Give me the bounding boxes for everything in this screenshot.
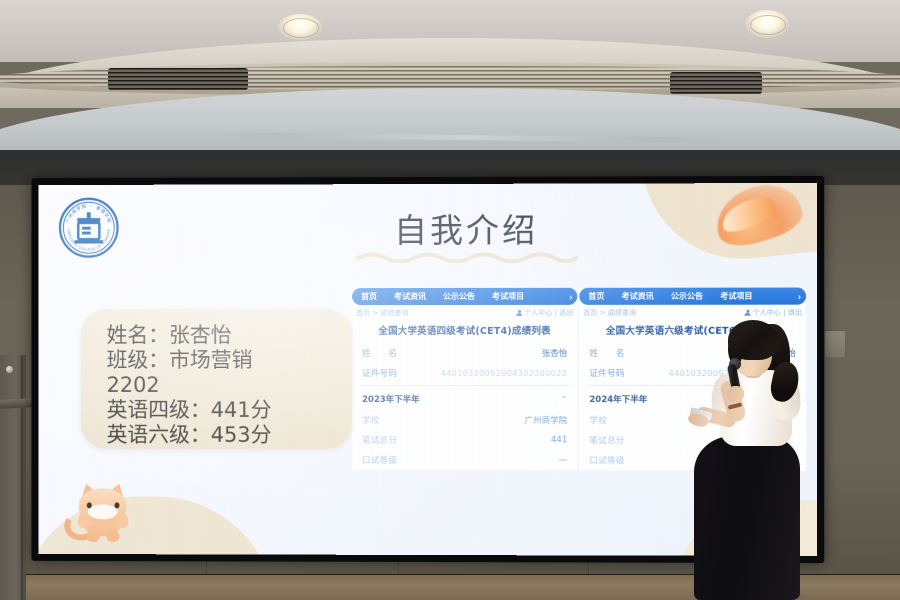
classroom-scene: 广州商学院 ・ 管理学院 GUANGZHOU COLLEGE OF COMMER… <box>0 0 900 600</box>
cet6-label-name: 姓 名 <box>589 347 624 359</box>
ceiling-light-ring-2 <box>750 15 786 35</box>
cat-muzzle <box>88 504 118 519</box>
cet4-account-area[interactable]: 个人中心 | 退出 <box>516 308 573 318</box>
cet6-account-area[interactable]: 个人中心 | 退出 <box>745 308 802 318</box>
vent-grille-right <box>670 72 762 94</box>
cet4-panel-title: 全国大学英语四级考试(CET4)成绩列表 <box>352 320 577 343</box>
person-icon <box>745 309 751 316</box>
page-title: 自我介绍 <box>336 204 596 253</box>
cet4-row-school: 学校 广州商学院 <box>352 410 577 430</box>
lectern-top-surface <box>0 398 34 409</box>
info-card-lines: 姓名：张杏怡 班级：市场营销 2202 英语四级：441分 英语六级：453分 <box>81 309 352 448</box>
cet4-period-label: 2023年下半年 <box>362 393 420 405</box>
cet6-nav-bar[interactable]: 首页 考试资讯 公示公告 考试项目 › <box>579 288 806 305</box>
presenter-hand-right <box>727 386 744 402</box>
presenter <box>688 318 838 600</box>
cet6-nav-news[interactable]: 考试资讯 <box>622 291 654 302</box>
info-line-class: 班级：市场营销 <box>107 348 352 373</box>
cet4-breadcrumb-path[interactable]: 首页 > 成绩查询 <box>356 308 408 318</box>
info-line-name: 姓名：张杏怡 <box>107 323 352 348</box>
chevron-up-icon[interactable]: ⌃ <box>561 395 568 404</box>
lectern-edge <box>21 355 23 600</box>
cat-leg-left <box>87 530 100 542</box>
cet4-period-row[interactable]: 2023年下半年 ⌃ <box>352 388 577 410</box>
cet4-row-name: 姓 名 张杏怡 <box>352 343 577 363</box>
cet4-breadcrumb: 首页 > 成绩查询 个人中心 | 退出 <box>352 305 577 320</box>
cet6-nav-projects[interactable]: 考试项目 <box>720 291 752 302</box>
info-line-class2: 2202 <box>107 373 352 398</box>
cet4-row-written: 笔试总分 441 <box>352 430 577 450</box>
university-logo-icon: 广州商学院 ・ 管理学院 GUANGZHOU COLLEGE OF COMMER… <box>58 197 119 259</box>
cet4-nav-projects[interactable]: 考试项目 <box>492 291 524 302</box>
cet4-label-written: 笔试总分 <box>362 434 397 446</box>
cet4-nav-notice[interactable]: 公示公告 <box>443 291 475 302</box>
vent-grille-left <box>108 68 248 90</box>
cet6-period-label: 2024年下半年 <box>589 393 647 405</box>
info-line-cet6: 英语六级：453分 <box>107 423 352 448</box>
cet6-account-links[interactable]: 个人中心 | 退出 <box>753 308 802 318</box>
cet4-label-oral: 口试等级 <box>362 454 397 466</box>
cet4-value-id: 44010320092904302300022 <box>441 368 568 377</box>
cat-eye-left <box>87 502 92 508</box>
info-line-cet4: 英语四级：441分 <box>107 398 352 423</box>
cat-eye-right <box>115 502 120 508</box>
cet4-value-school: 广州商学院 <box>525 414 568 426</box>
cet4-nav-bar[interactable]: 首页 考试资讯 公示公告 考试项目 › <box>352 288 577 305</box>
cet4-value-written: 441 <box>551 435 567 445</box>
title-wave-underline <box>356 250 578 262</box>
presenter-hair-top <box>728 320 778 360</box>
cet4-value-oral: — <box>559 455 568 465</box>
cet4-row-id: 证件号码 44010320092904302300022 <box>352 363 577 383</box>
cet6-label-id: 证件号码 <box>589 367 624 379</box>
cet6-label-school: 学校 <box>589 414 607 426</box>
chevron-right-icon[interactable]: › <box>569 291 572 301</box>
person-icon <box>516 309 522 316</box>
cet6-label-oral: 口试等级 <box>589 454 624 466</box>
cet4-nav-news[interactable]: 考试资讯 <box>394 291 426 302</box>
cet6-breadcrumb-path[interactable]: 首页 > 成绩查询 <box>583 308 636 318</box>
presenter-skirt <box>694 436 800 600</box>
cet4-nav-home[interactable]: 首页 <box>361 291 377 302</box>
cet4-label-name: 姓 名 <box>362 347 397 359</box>
cet4-divider <box>360 385 569 386</box>
cet4-screenshot-panel[interactable]: 首页 考试资讯 公示公告 考试项目 › 首页 > 成绩查询 个人中心 | 退出 … <box>352 288 577 470</box>
cet4-row-oral: 口试等级 — <box>352 450 577 470</box>
cet4-value-name: 张杏怡 <box>542 347 568 359</box>
ceiling-light-ring-1 <box>283 18 319 38</box>
cat-leg-right <box>107 530 120 542</box>
cat-mascot-icon <box>66 482 139 546</box>
cet6-label-written: 笔试总分 <box>589 434 624 446</box>
lectern-knob <box>6 366 13 373</box>
cet6-nav-home[interactable]: 首页 <box>588 291 604 302</box>
cet6-nav-notice[interactable]: 公示公告 <box>671 291 703 302</box>
info-card: 姓名：张杏怡 班级：市场营销 2202 英语四级：441分 英语六级：453分 <box>81 309 352 449</box>
chevron-right-icon[interactable]: › <box>798 291 801 301</box>
cet4-account-links[interactable]: 个人中心 | 退出 <box>524 308 573 318</box>
cet4-label-id: 证件号码 <box>362 367 397 379</box>
cet4-label-school: 学校 <box>362 414 380 426</box>
